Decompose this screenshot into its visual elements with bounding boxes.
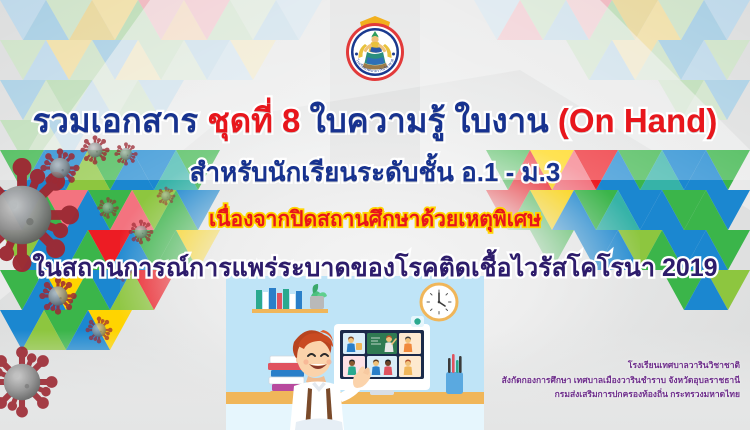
illustration-boy-online-learning <box>208 276 508 430</box>
floor <box>226 404 484 430</box>
wall-clock <box>421 284 457 320</box>
credit-line-school: โรงเรียนเทศบาลวารินวิชาชาติ <box>502 358 740 373</box>
pen-holder <box>446 354 463 394</box>
banner-root: โรงเรียนเทศบาลวารินวิชาชาติ <box>0 0 750 430</box>
monitor <box>334 316 430 395</box>
credit-line-department: สังกัดกองการศึกษา เทศบาลเมืองวารินชำราบ … <box>502 373 740 388</box>
school-emblem-logo: โรงเรียนเทศบาลวารินวิชาชาติ <box>344 14 406 86</box>
credits-block: โรงเรียนเทศบาลวารินวิชาชาติ สังกัดกองการ… <box>502 358 740 402</box>
credit-line-ministry: กรมส่งเสริมการปกครองท้องถิ่น กระทรวงมหาด… <box>502 387 740 402</box>
